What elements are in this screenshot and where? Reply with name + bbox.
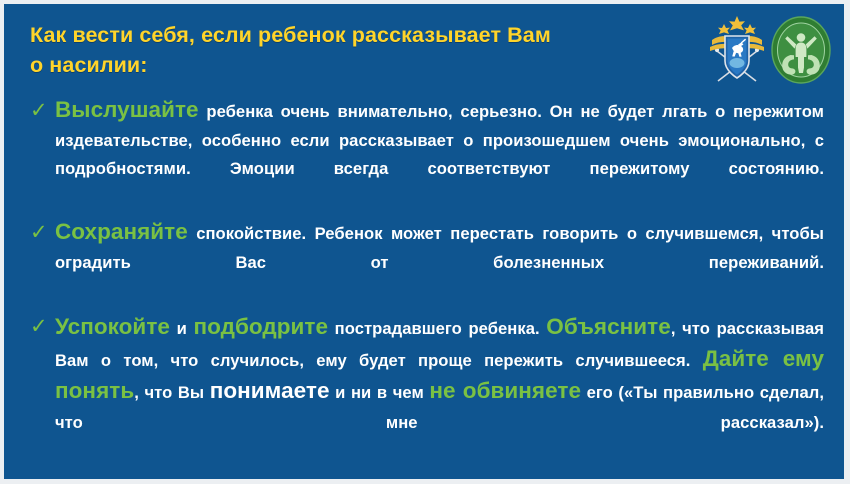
bullet-2-keyword: Сохраняйте [55, 219, 188, 244]
check-icon: ✓ [30, 222, 50, 244]
bullet-3-body-1: и [170, 319, 194, 338]
bullet-3-body-4: , что Вы [134, 383, 210, 402]
page-title: Как вести себя, если ребенок рассказывае… [30, 20, 680, 80]
bullet-3-keyword-5: понимаете [210, 378, 330, 403]
page-title-line-2: о насилии: [30, 50, 680, 80]
slide-canvas: Как вести себя, если ребенок рассказывае… [4, 4, 844, 479]
check-icon: ✓ [30, 316, 50, 338]
slide-body: ✓ Выслушайте ребенка очень внимательно, … [4, 94, 844, 479]
bullet-3-body-2: пострадавшего ребенка. [328, 319, 546, 338]
list-item: ✓ Сохраняйте спокойствие. Ребенок может … [30, 218, 824, 306]
bullet-3-keyword-3: Объясните [546, 314, 671, 339]
bullet-1-keyword: Выслушайте [55, 97, 199, 122]
slide-header: Как вести себя, если ребенок рассказывае… [4, 4, 844, 92]
bullet-3-body-5: и ни в чем [330, 383, 430, 402]
list-item: ✓ Успокойте и подбодрите пострадавшего р… [30, 312, 824, 468]
bullet-3-text: Успокойте и подбодрите пострадавшего реб… [55, 312, 824, 468]
bullet-2-text: Сохраняйте спокойствие. Ребенок может пе… [55, 218, 824, 306]
investigative-committee-emblem [708, 15, 766, 87]
bullet-3-keyword-1: Успокойте [55, 314, 170, 339]
emblem-group [708, 15, 832, 87]
child-protection-emblem [770, 15, 832, 85]
slide-frame: Как вести себя, если ребенок рассказывае… [0, 0, 850, 484]
bullet-3-keyword-2: подбодрите [193, 314, 328, 339]
page-title-line-1: Как вести себя, если ребенок рассказывае… [30, 23, 551, 47]
list-item: ✓ Выслушайте ребенка очень внимательно, … [30, 96, 824, 212]
bullet-3-keyword-6: не обвиняете [429, 378, 581, 403]
bullet-1-text: Выслушайте ребенка очень внимательно, се… [55, 96, 824, 212]
check-icon: ✓ [30, 100, 50, 122]
